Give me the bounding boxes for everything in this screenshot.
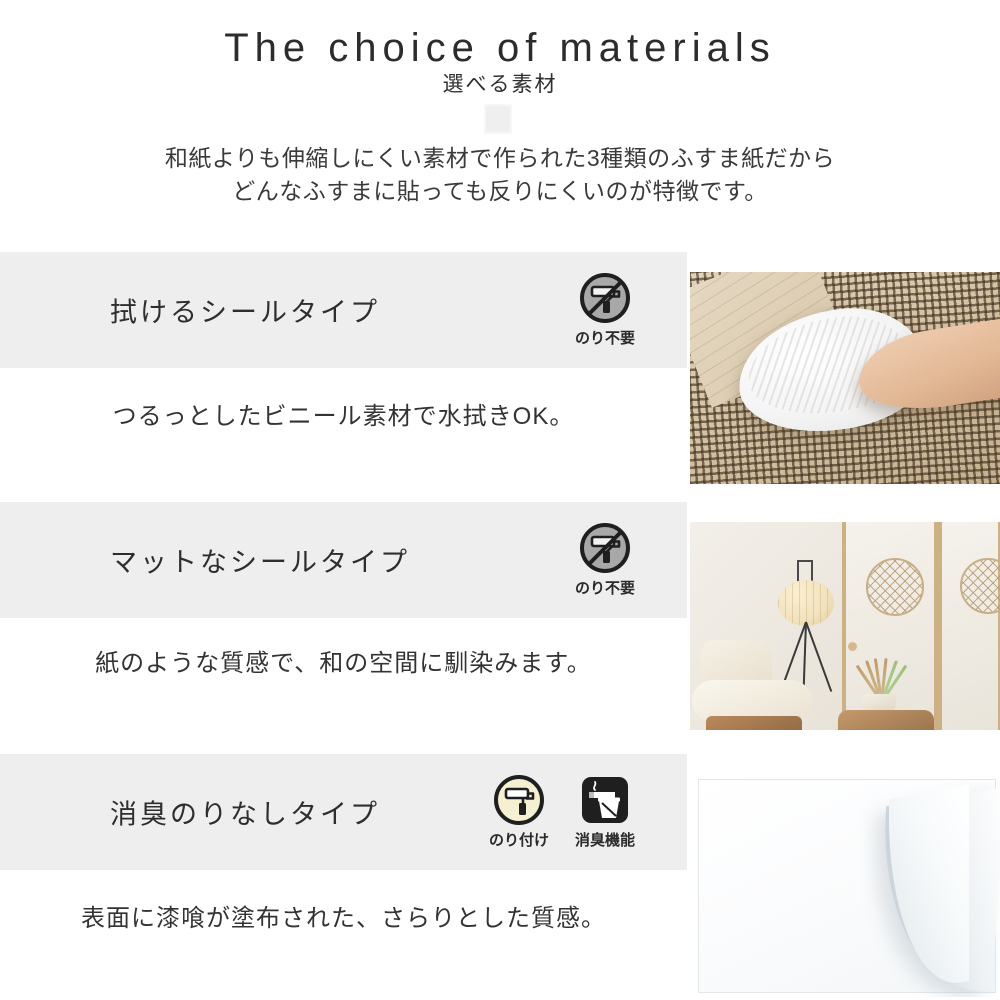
badge-label-3-2: 消臭機能 — [575, 829, 635, 850]
lead-line-1: 和紙よりも伸縮しにくい素材で作られた3種類のふすま紙だから — [0, 142, 1000, 175]
badge-group-1: のり不要 — [569, 272, 641, 348]
section-photo-2 — [690, 522, 1000, 730]
section-description-1: つるっとしたビニール素材で水拭きOK。 — [0, 396, 687, 431]
deodorize-icon — [579, 774, 631, 826]
section-description-2: 紙のような質感で、和の空間に馴染みます。 — [0, 643, 687, 678]
section-band-3: 消臭のりなしタイプ のり付け — [0, 754, 687, 870]
badge-label-3-1: のり付け — [489, 829, 549, 850]
boucle-chair — [692, 640, 824, 730]
no-glue-roller-icon — [579, 272, 631, 324]
section-band-2: マットなシールタイプ — [0, 502, 687, 618]
fusuma-panel-2 — [938, 522, 1000, 730]
lead-line-2: どんなふすまに貼っても反りにくいのが特徴です。 — [0, 175, 1000, 208]
paper-curl-edge — [889, 785, 969, 995]
no-glue-roller-icon — [579, 522, 631, 574]
section-photo-3 — [690, 775, 1000, 997]
page-root: The choice of materials 選べる素材 和紙よりも伸縮しにく… — [0, 0, 1000, 1000]
glue-roller-icon — [493, 774, 545, 826]
badge-group-3: のり付け — [483, 774, 641, 850]
side-table — [838, 710, 934, 730]
section-description-3: 表面に漆喰が塗布された、さらりとした質感。 — [0, 898, 687, 933]
section-photo-1 — [690, 272, 1000, 484]
decorative-square — [484, 104, 512, 134]
badge-group-2: のり不要 — [569, 522, 641, 598]
lantern-frame — [797, 560, 813, 582]
lattice-circle-1 — [866, 558, 924, 616]
badge-glue-3: のり付け — [483, 774, 555, 850]
section-band-1: 拭けるシールタイプ — [0, 252, 687, 368]
badge-label-1-1: のり不要 — [575, 327, 635, 348]
badge-no-glue-2: のり不要 — [569, 522, 641, 598]
badge-no-glue-1: のり不要 — [569, 272, 641, 348]
lead-paragraph: 和紙よりも伸縮しにくい素材で作られた3種類のふすま紙だから どんなふすまに貼って… — [0, 142, 1000, 208]
badge-label-2-1: のり不要 — [575, 577, 635, 598]
paper-sheet — [698, 779, 996, 993]
badge-deodorize-3: 消臭機能 — [569, 774, 641, 850]
header: The choice of materials 選べる素材 和紙よりも伸縮しにく… — [0, 0, 1000, 252]
paper-lantern — [778, 580, 834, 626]
section-title-3: 消臭のりなしタイプ — [110, 793, 380, 832]
page-title-en: The choice of materials — [0, 26, 1000, 71]
chair-base — [706, 716, 802, 730]
section-title-2: マットなシールタイプ — [110, 541, 410, 580]
page-title-ja: 選べる素材 — [0, 68, 1000, 98]
section-title-1: 拭けるシールタイプ — [110, 291, 380, 330]
